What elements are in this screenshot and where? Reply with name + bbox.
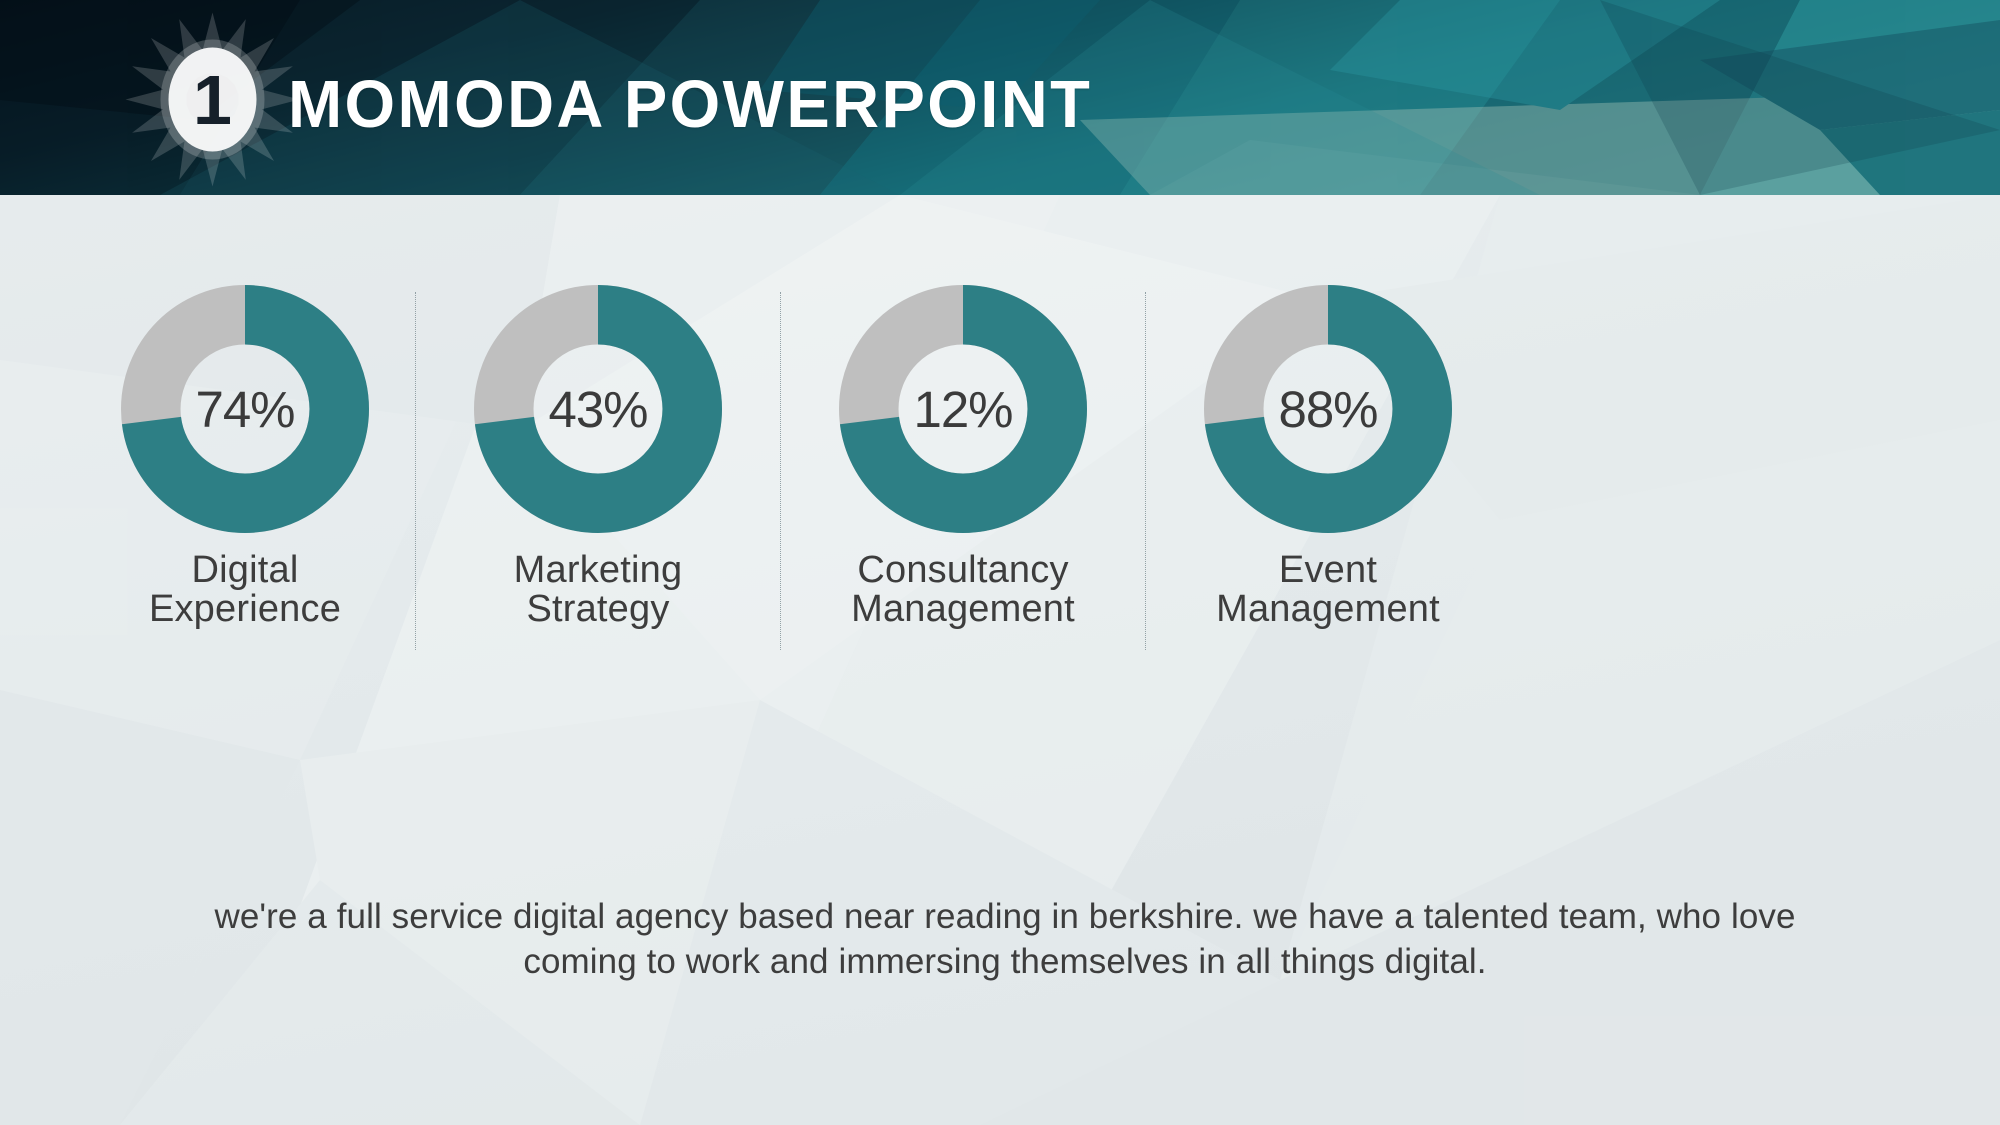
donut-value-label: 43% bbox=[474, 285, 722, 533]
donut-chart-digital-experience: 74% bbox=[121, 285, 369, 533]
stat-column-consultancy-management[interactable]: 12% Consultancy Management bbox=[780, 285, 1146, 629]
stats-row: 74% Digital Experience 43% Marketing Str… bbox=[0, 285, 2000, 655]
page-title: MOMODA POWERPOINT bbox=[288, 66, 1092, 143]
donut-value-label: 88% bbox=[1204, 285, 1452, 533]
stat-label-line-1: Digital bbox=[62, 551, 428, 590]
donut-value-label: 74% bbox=[121, 285, 369, 533]
slide-root: 1 MOMODA POWERPOINT 74% Digital Experien… bbox=[0, 0, 2000, 1125]
stat-label-consultancy-management: Consultancy Management bbox=[780, 551, 1146, 629]
stat-label-line-2: Strategy bbox=[415, 590, 781, 629]
donut-chart-consultancy-management: 12% bbox=[839, 285, 1087, 533]
donut-chart-event-management: 88% bbox=[1204, 285, 1452, 533]
donut-chart-marketing-strategy: 43% bbox=[474, 285, 722, 533]
stat-column-marketing-strategy[interactable]: 43% Marketing Strategy bbox=[415, 285, 781, 629]
stat-column-digital-experience[interactable]: 74% Digital Experience bbox=[62, 285, 428, 629]
footer-paragraph: we're a full service digital agency base… bbox=[160, 895, 1850, 985]
stat-label-line-2: Management bbox=[780, 590, 1146, 629]
stat-label-marketing-strategy: Marketing Strategy bbox=[415, 551, 781, 629]
slide-header: 1 MOMODA POWERPOINT bbox=[0, 0, 2000, 195]
badge-number: 1 bbox=[125, 12, 300, 187]
donut-value-label: 12% bbox=[839, 285, 1087, 533]
stat-column-event-management[interactable]: 88% Event Management bbox=[1145, 285, 1511, 629]
stat-label-event-management: Event Management bbox=[1145, 551, 1511, 629]
stat-label-line-1: Event bbox=[1145, 551, 1511, 590]
stat-label-digital-experience: Digital Experience bbox=[62, 551, 428, 629]
stat-label-line-1: Consultancy bbox=[780, 551, 1146, 590]
stat-label-line-2: Management bbox=[1145, 590, 1511, 629]
stat-label-line-1: Marketing bbox=[415, 551, 781, 590]
starburst-badge: 1 bbox=[125, 12, 300, 187]
stat-label-line-2: Experience bbox=[62, 590, 428, 629]
